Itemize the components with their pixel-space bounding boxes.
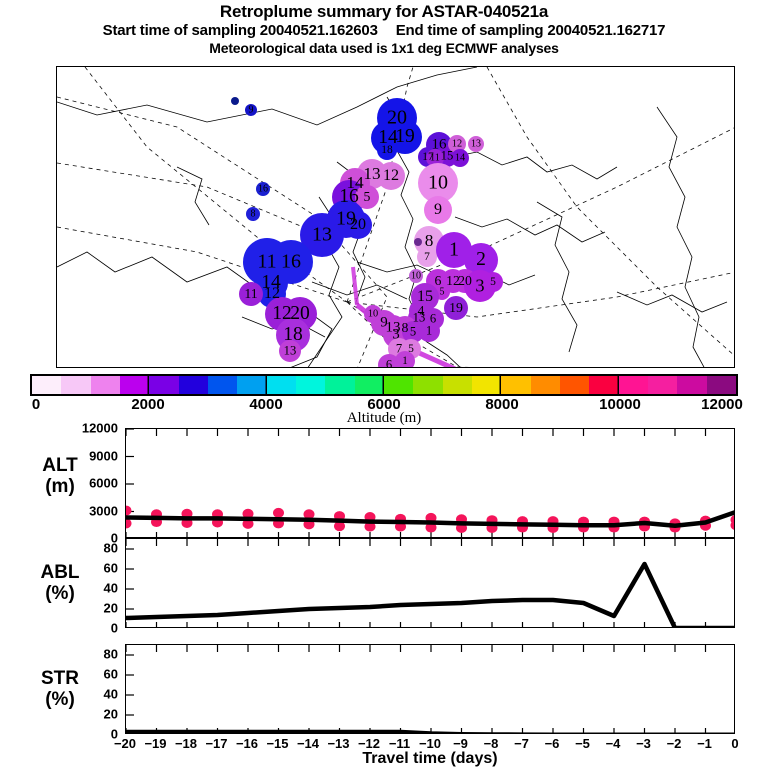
colorbar-segment bbox=[32, 376, 61, 394]
x-tick-label: −13 bbox=[327, 736, 349, 751]
colorbar-segment bbox=[355, 376, 384, 394]
figure-header: Retroplume summary for ASTAR-040521a Sta… bbox=[0, 2, 768, 57]
x-tick-label: −7 bbox=[514, 736, 529, 751]
x-tick-label: −17 bbox=[205, 736, 227, 751]
colorbar-segment bbox=[296, 376, 325, 394]
y-tick-label: 12000 bbox=[60, 421, 118, 436]
colorbar-segment bbox=[472, 376, 501, 394]
colorbar-segment bbox=[208, 376, 237, 394]
colorbar-segment bbox=[443, 376, 472, 394]
retroplume-blob bbox=[444, 296, 468, 320]
y-tick-label: 60 bbox=[60, 561, 118, 576]
colorbar-segment bbox=[91, 376, 120, 394]
y-tick-label: 3000 bbox=[60, 503, 118, 518]
retroplume-blob bbox=[344, 211, 372, 239]
x-tick-label: −6 bbox=[545, 736, 560, 751]
met-data-label: Meteorological data used is 1x1 deg ECMW… bbox=[0, 40, 768, 57]
retroplume-blob bbox=[418, 320, 440, 342]
x-tick-label: −2 bbox=[667, 736, 682, 751]
colorbar-segment bbox=[619, 376, 648, 394]
colorbar-segment bbox=[413, 376, 442, 394]
y-tick-label: 20 bbox=[60, 707, 118, 722]
retroplume-blob bbox=[256, 182, 270, 196]
colorbar-segment bbox=[531, 376, 560, 394]
colorbar-segment bbox=[707, 376, 736, 394]
str-plot[interactable] bbox=[125, 644, 735, 734]
retroplume-blob bbox=[468, 136, 484, 152]
retroplume-blob bbox=[451, 149, 469, 167]
colorbar-segment bbox=[589, 376, 618, 394]
retroplume-blob bbox=[239, 282, 263, 306]
retroplume-blob bbox=[245, 104, 257, 116]
y-tick-label: 80 bbox=[60, 541, 118, 556]
y-tick-label: 9000 bbox=[60, 448, 118, 463]
retroplume-map[interactable]: 2019141816151712131411131210914165192013… bbox=[56, 66, 735, 368]
y-tick-label: 40 bbox=[60, 581, 118, 596]
x-tick-label: −5 bbox=[575, 736, 590, 751]
colorbar-segment bbox=[237, 376, 266, 394]
x-tick-label: −20 bbox=[114, 736, 136, 751]
abl-plot-svg bbox=[126, 539, 735, 628]
x-tick-label: −16 bbox=[236, 736, 258, 751]
altitude-colorbar[interactable] bbox=[30, 374, 738, 396]
retroplume-blob bbox=[483, 272, 503, 292]
x-tick-label: 0 bbox=[731, 736, 738, 751]
x-tick-label: −12 bbox=[358, 736, 380, 751]
x-tick-label: −18 bbox=[175, 736, 197, 751]
y-tick-label: 80 bbox=[60, 647, 118, 662]
colorbar-segment bbox=[648, 376, 677, 394]
y-tick-label: 0 bbox=[60, 621, 118, 636]
str-plot-svg bbox=[126, 645, 735, 734]
colorbar-segment bbox=[501, 376, 530, 394]
retroplume-blob bbox=[414, 238, 422, 246]
x-tick-label: −11 bbox=[389, 736, 410, 751]
retroplume-blob bbox=[417, 247, 437, 267]
end-time-label: End time of sampling 20040521.162717 bbox=[396, 22, 666, 39]
retroplume-blob bbox=[231, 97, 239, 105]
x-tick-label: −14 bbox=[297, 736, 319, 751]
x-tick-label: −4 bbox=[606, 736, 621, 751]
colorbar-segment bbox=[267, 376, 296, 394]
colorbar-segment bbox=[560, 376, 589, 394]
retroplume-blob bbox=[377, 162, 405, 190]
y-tick-label: 0 bbox=[60, 727, 118, 742]
abl-plot[interactable] bbox=[125, 538, 735, 628]
colorbar-segment bbox=[325, 376, 354, 394]
colorbar-segment bbox=[149, 376, 178, 394]
retroplume-blob bbox=[409, 269, 423, 283]
start-time-label: Start time of sampling 20040521.162603 bbox=[103, 22, 378, 39]
x-tick-label: −15 bbox=[266, 736, 288, 751]
x-axis-title: Travel time (days) bbox=[125, 750, 735, 768]
x-tick-label: −3 bbox=[636, 736, 651, 751]
sampling-times: Start time of sampling 20040521.162603En… bbox=[0, 22, 768, 40]
colorbar-segment bbox=[61, 376, 90, 394]
retroplume-blob bbox=[246, 207, 260, 221]
x-tick-label: −1 bbox=[697, 736, 712, 751]
colorbar-segment bbox=[677, 376, 706, 394]
alt-plot-svg bbox=[126, 429, 735, 538]
x-tick-label: −10 bbox=[419, 736, 441, 751]
retroplume-blob bbox=[424, 196, 452, 224]
y-tick-label: 60 bbox=[60, 667, 118, 682]
y-tick-label: 40 bbox=[60, 687, 118, 702]
x-tick-label: −19 bbox=[144, 736, 166, 751]
alt-plot[interactable] bbox=[125, 428, 735, 538]
page-title: Retroplume summary for ASTAR-040521a bbox=[0, 2, 768, 22]
colorbar-segment bbox=[384, 376, 413, 394]
x-tick-label: −9 bbox=[453, 736, 468, 751]
retroplume-blob bbox=[377, 140, 397, 160]
colorbar-segment bbox=[179, 376, 208, 394]
retroplume-blob bbox=[279, 340, 301, 362]
y-tick-label: 20 bbox=[60, 601, 118, 616]
colorbar-segment bbox=[120, 376, 149, 394]
x-tick-label: −8 bbox=[484, 736, 499, 751]
y-tick-label: 6000 bbox=[60, 476, 118, 491]
